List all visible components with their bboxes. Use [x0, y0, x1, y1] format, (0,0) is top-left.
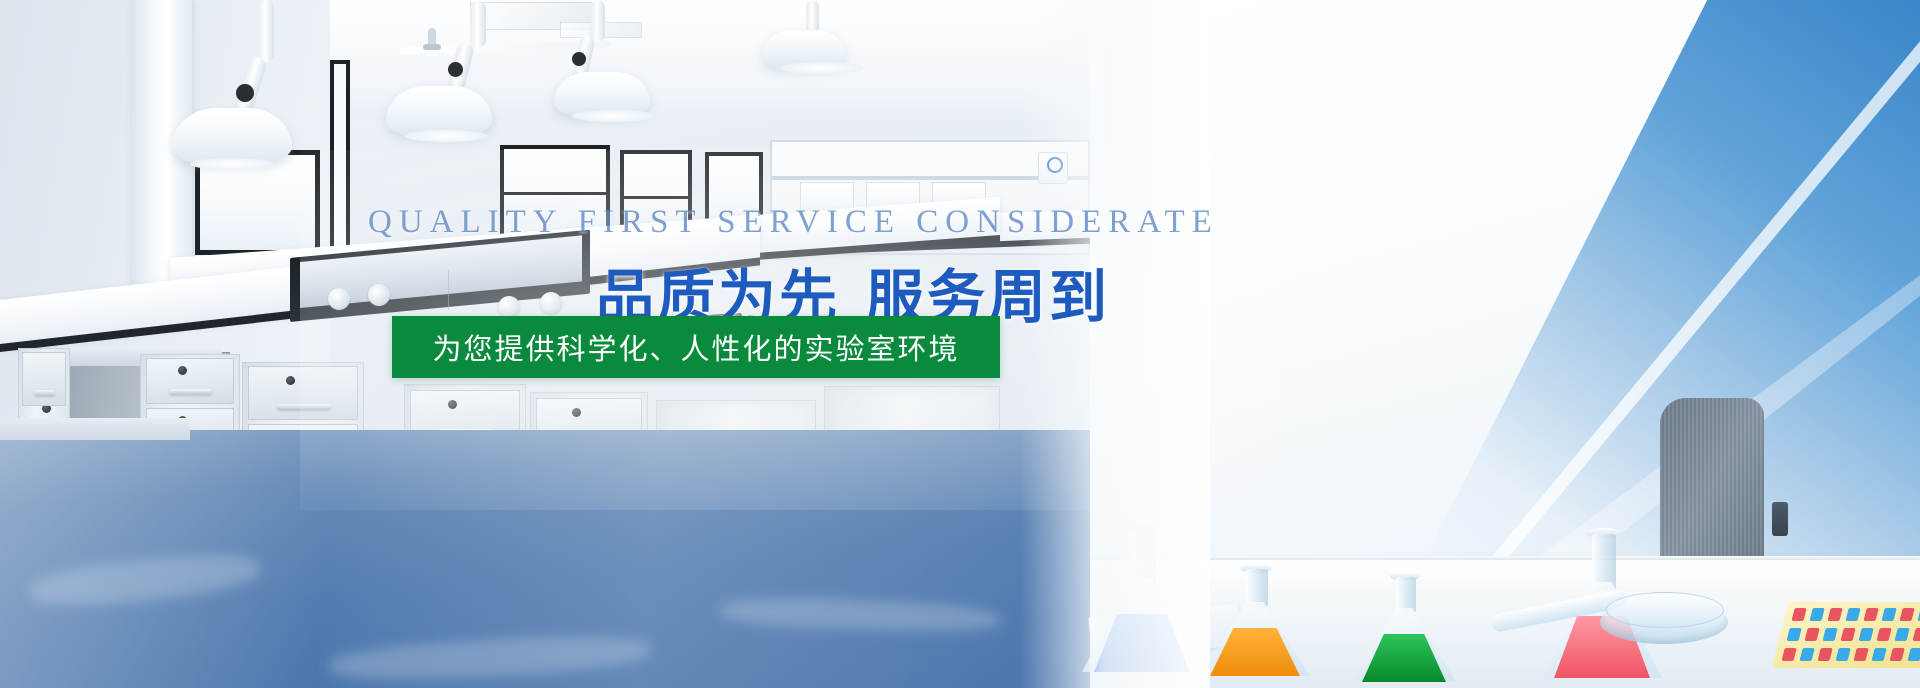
- banner-copy: QUALITY FIRST SERVICE CONSIDERATE 品质为先服务…: [0, 0, 1920, 688]
- english-tagline: QUALITY FIRST SERVICE CONSIDERATE: [368, 204, 1219, 241]
- subheadline-text: 为您提供科学化、人性化的实验室环境: [432, 326, 959, 368]
- hero-banner: QUALITY FIRST SERVICE CONSIDERATE 品质为先服务…: [0, 0, 1920, 688]
- subheadline-bar: 为您提供科学化、人性化的实验室环境: [392, 316, 1000, 378]
